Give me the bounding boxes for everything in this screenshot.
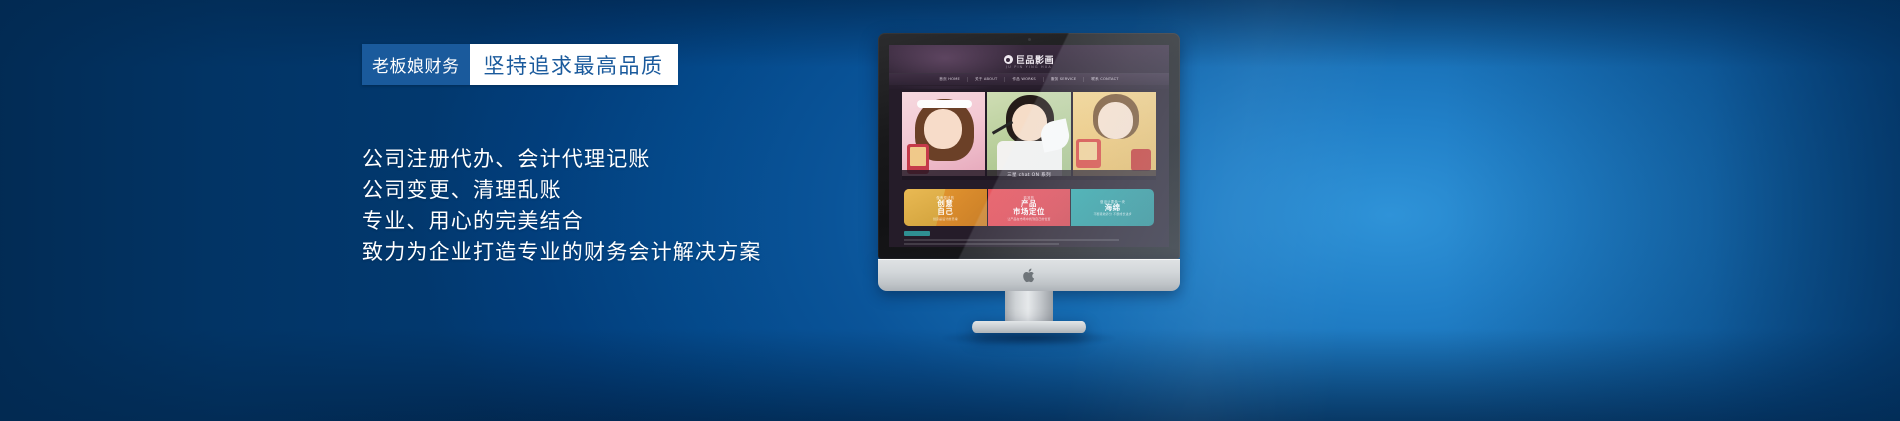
panel-title-2: 自己: [937, 208, 953, 217]
banner-stage: 老板娘财务 坚持追求最高品质 公司注册代办、会计代理记账 公司变更、清理乱账 专…: [0, 0, 1900, 421]
apple-logo-icon: [1022, 267, 1036, 284]
gallery-caption: 三星 chat ON 系列: [902, 170, 1156, 180]
imac-monitor: 巨品影画 JU PIN YING HUA 首页 HOME 关于 ABOUT 作品…: [878, 33, 1180, 328]
panel-bottom-text: 创意是设计的灵魂: [933, 217, 958, 221]
feature-panel-creative[interactable]: 做有想法的 创意 自己 创意是设计的灵魂: [904, 189, 987, 226]
monitor-screen: 巨品影画 JU PIN YING HUA 首页 HOME 关于 ABOUT 作品…: [889, 45, 1169, 247]
site-footer: [904, 231, 1154, 247]
feature-panel-sponge[interactable]: 做设计要像一块 海绵 不断吸收养分 不断成长进步: [1071, 189, 1154, 226]
monitor-stand-base: [972, 321, 1086, 333]
footer-text-line: [904, 243, 1059, 245]
gallery-photo[interactable]: [902, 92, 985, 176]
aperture-icon: [1004, 55, 1013, 64]
monitor-stand-neck: [1005, 291, 1053, 324]
panel-bottom-text: 不断吸收养分 不断成长进步: [1094, 212, 1132, 216]
footer-tab[interactable]: [904, 231, 930, 236]
nav-item-contact[interactable]: 联系 CONTACT: [1084, 77, 1125, 82]
site-gallery: [902, 92, 1156, 176]
site-navbar[interactable]: 首页 HOME 关于 ABOUT 作品 WORKS 服务 SERVICE 联系 …: [889, 73, 1169, 86]
nav-item-home[interactable]: 首页 HOME: [932, 77, 968, 82]
feature-panel-product[interactable]: 精准的 产品 市场定位 让产品在市场中找到自己的位置: [988, 189, 1071, 226]
webcam-icon: [1028, 38, 1031, 41]
panel-bottom-text: 让产品在市场中找到自己的位置: [1007, 217, 1050, 221]
monitor-bezel: 巨品影画 JU PIN YING HUA 首页 HOME 关于 ABOUT 作品…: [878, 33, 1180, 259]
nav-item-works[interactable]: 作品 WORKS: [1005, 77, 1043, 82]
footer-text-line: [904, 239, 1119, 241]
panel-title: 海绵: [1105, 204, 1121, 213]
site-logo-subtitle: JU PIN YING HUA: [889, 65, 1169, 69]
website-preview: 巨品影画 JU PIN YING HUA 首页 HOME 关于 ABOUT 作品…: [889, 45, 1169, 247]
site-feature-panels: 做有想法的 创意 自己 创意是设计的灵魂 精准的 产品 市场定位 让产品在市场中…: [904, 189, 1154, 226]
nav-item-service[interactable]: 服务 SERVICE: [1044, 77, 1084, 82]
monitor-chin: [878, 259, 1180, 291]
gallery-photo[interactable]: [1073, 92, 1156, 176]
nav-item-about[interactable]: 关于 ABOUT: [968, 77, 1005, 82]
headline-bar: 老板娘财务 坚持追求最高品质: [362, 44, 674, 85]
gallery-photo[interactable]: [987, 92, 1070, 176]
panel-title-2: 市场定位: [1013, 208, 1045, 217]
headline-slogan: 坚持追求最高品质: [470, 44, 678, 85]
brand-tag: 老板娘财务: [362, 44, 470, 85]
